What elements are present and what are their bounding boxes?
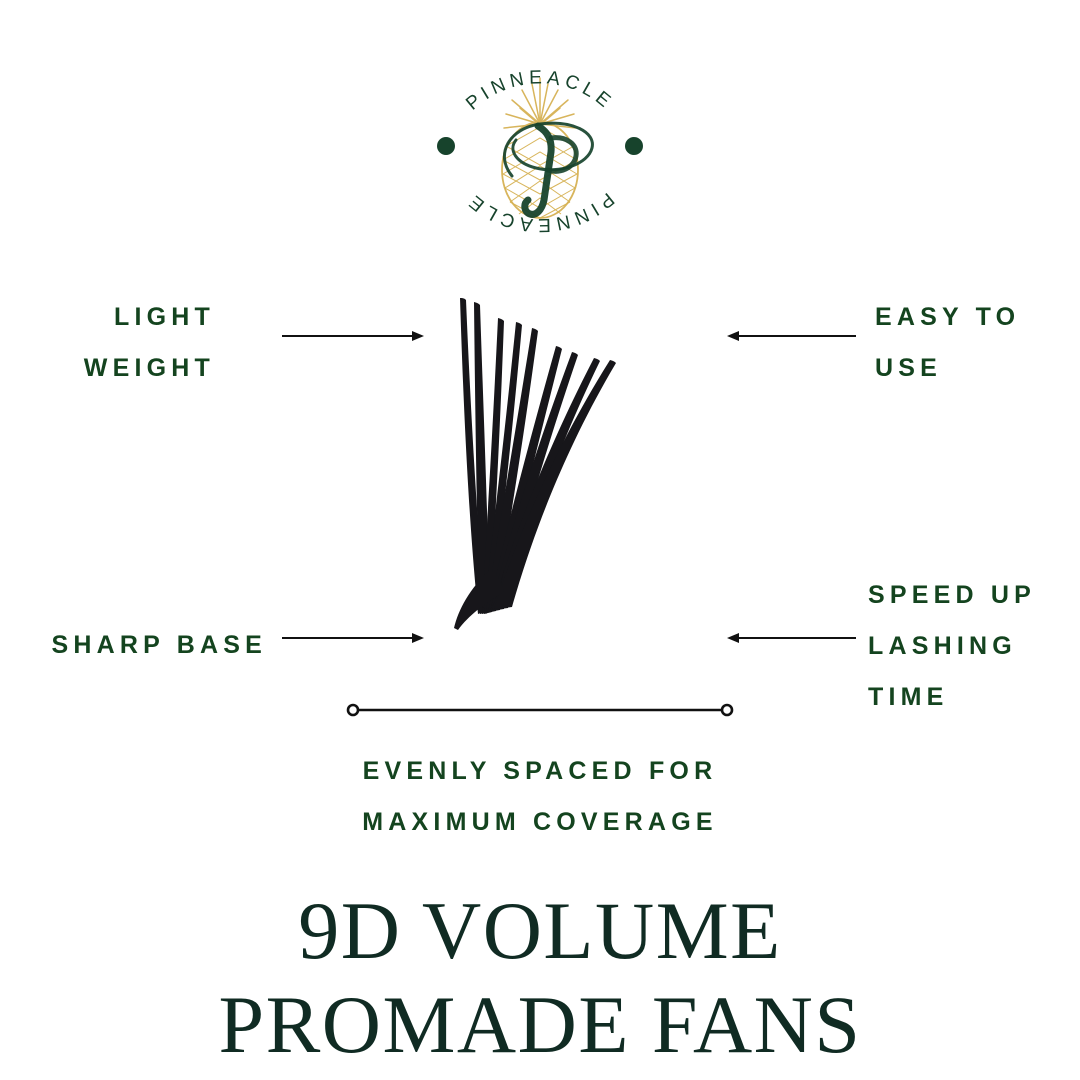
feature-label-easy-to-use: EASY TO USE xyxy=(875,292,1080,394)
lash-strands xyxy=(460,298,616,614)
monogram-p xyxy=(504,123,592,214)
lash-fan xyxy=(420,270,720,640)
feature-label-evenly-spaced: EVENLY SPACED FOR MAXIMUM COVERAGE xyxy=(190,746,890,848)
lash-fan-graphic xyxy=(420,270,720,640)
feature-label-speed-up-lashing-time: SPEED UP LASHING TIME xyxy=(868,570,1080,723)
arrow-left-speed-up-icon xyxy=(726,626,858,650)
poster-canvas: PINNEACLE PINNEACLE xyxy=(0,0,1080,1080)
feature-label-sharp-base: SHARP BASE xyxy=(0,620,267,671)
page-title: 9D VOLUME PROMADE FANS xyxy=(60,884,1020,1072)
arrow-right-light-weight-icon xyxy=(280,324,425,348)
brand-logo: PINNEACLE PINNEACLE xyxy=(420,28,660,268)
logo-dot-left-icon xyxy=(437,137,455,155)
feature-label-light-weight: LIGHT WEIGHT xyxy=(0,292,215,394)
arrow-left-easy-to-use-icon xyxy=(726,324,858,348)
span-line-evenly-spaced-icon xyxy=(340,697,740,723)
logo-graphic: PINNEACLE PINNEACLE xyxy=(420,28,660,268)
arrow-right-sharp-base-icon xyxy=(280,626,425,650)
logo-dot-right-icon xyxy=(625,137,643,155)
